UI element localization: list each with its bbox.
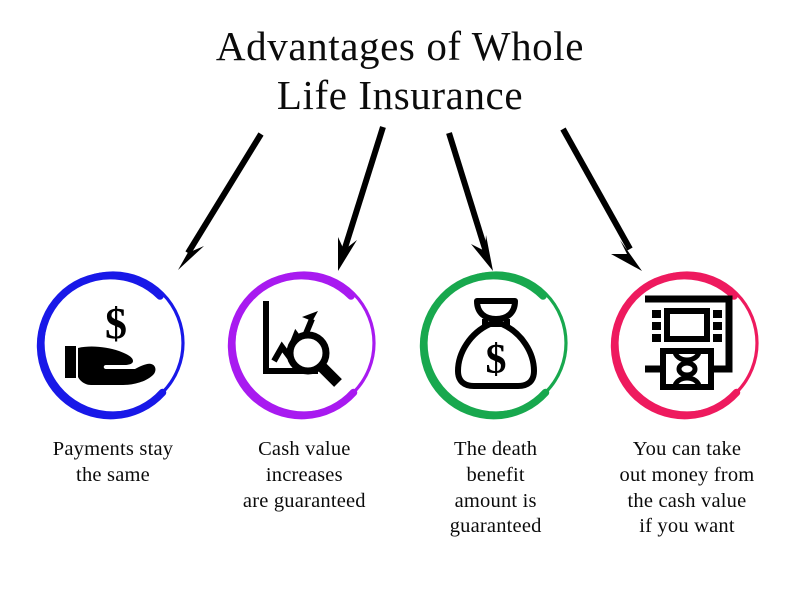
atm-machine-cash-icon bbox=[635, 291, 739, 395]
advantage-item-death-benefit-guaranteed[interactable]: $ The death benefit amount is guaranteed bbox=[405, 263, 587, 583]
icon-badge-cash-value-increases bbox=[224, 263, 384, 423]
caption-line: Payments stay bbox=[53, 437, 173, 463]
advantage-caption-payments-stay-the-same: Payments stay the same bbox=[53, 437, 173, 489]
money-bag-icon: $ bbox=[444, 291, 548, 395]
arrow-to-cash-value-increases bbox=[338, 127, 383, 271]
icon-badge-death-benefit-guaranteed: $ bbox=[416, 263, 576, 423]
advantage-item-cash-value-increases[interactable]: Cash value increases are guaranteed bbox=[213, 263, 395, 583]
advantages-list: $ Payments stay the same bbox=[0, 263, 800, 583]
infographic-canvas: Advantages of Whole Life Insurance bbox=[0, 0, 800, 600]
advantage-caption-take-out-money: You can take out money from the cash val… bbox=[620, 437, 755, 540]
svg-text:$: $ bbox=[485, 337, 506, 383]
caption-line: the same bbox=[53, 463, 173, 489]
arrow-to-payments-stay-the-same bbox=[178, 134, 261, 270]
page-title-line-1: Advantages of Whole bbox=[0, 22, 800, 71]
advantage-caption-cash-value-increases: Cash value increases are guaranteed bbox=[243, 437, 366, 514]
caption-line: benefit bbox=[450, 463, 542, 489]
page-title-line-2: Life Insurance bbox=[0, 71, 800, 120]
caption-line: the cash value bbox=[620, 489, 755, 515]
icon-badge-take-out-money bbox=[607, 263, 767, 423]
caption-line: guaranteed bbox=[450, 514, 542, 540]
advantage-item-take-out-money[interactable]: You can take out money from the cash val… bbox=[596, 263, 778, 583]
advantage-caption-death-benefit-guaranteed: The death benefit amount is guaranteed bbox=[450, 437, 542, 540]
caption-line: The death bbox=[450, 437, 542, 463]
arrow-to-take-out-money bbox=[563, 129, 642, 271]
caption-line: if you want bbox=[620, 514, 755, 540]
caption-line: Cash value bbox=[243, 437, 366, 463]
growth-chart-magnifier-icon bbox=[252, 291, 356, 395]
caption-line: You can take bbox=[620, 437, 755, 463]
svg-text:$: $ bbox=[105, 299, 127, 348]
advantage-item-payments-stay-the-same[interactable]: $ Payments stay the same bbox=[22, 263, 204, 583]
caption-line: out money from bbox=[620, 463, 755, 489]
page-title: Advantages of Whole Life Insurance bbox=[0, 22, 800, 120]
hand-holding-dollar-icon: $ bbox=[61, 291, 165, 395]
caption-line: increases bbox=[243, 463, 366, 489]
caption-line: amount is bbox=[450, 489, 542, 515]
arrow-to-death-benefit-guaranteed bbox=[449, 133, 493, 271]
icon-badge-payments-stay-the-same: $ bbox=[33, 263, 193, 423]
caption-line: are guaranteed bbox=[243, 489, 366, 515]
